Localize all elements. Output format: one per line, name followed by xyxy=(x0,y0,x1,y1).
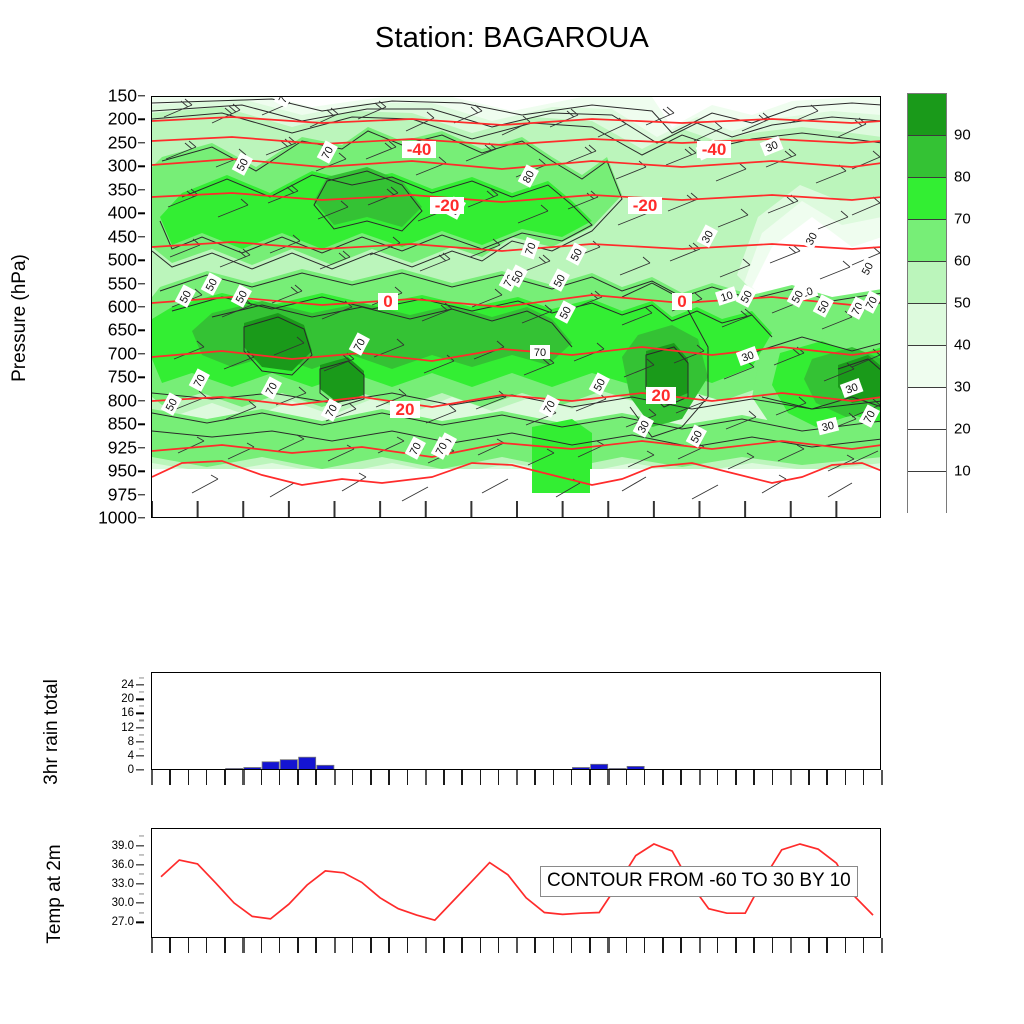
colorbar-band xyxy=(908,262,946,304)
main-y-tick-label: 250 xyxy=(108,132,137,153)
colorbar-tick-label: 30 xyxy=(954,379,971,396)
vertical-cross-section-plot[interactable]: 50 70 50 70 80 50 70 70 50 50 70 70 70 7… xyxy=(151,96,881,518)
x-tick xyxy=(680,770,682,785)
temp-y-minor-tick xyxy=(139,912,144,913)
rain-y-tick xyxy=(136,727,144,728)
page-title: Station: BAGAROUA xyxy=(0,22,1024,55)
temp-x-ticks xyxy=(151,938,881,954)
svg-text:70: 70 xyxy=(534,347,546,359)
x-tick xyxy=(261,770,263,785)
x-tick xyxy=(480,770,482,785)
x-tick xyxy=(224,938,226,953)
x-tick xyxy=(881,938,883,953)
rain-y-axis: 24201612840 xyxy=(0,672,145,770)
rain-y-minor-tick xyxy=(139,748,144,749)
colorbar-tick-label: 80 xyxy=(954,169,971,186)
x-tick xyxy=(498,770,500,785)
x-tick xyxy=(845,938,847,953)
rain-bar xyxy=(280,760,297,770)
main-y-tick xyxy=(138,447,145,448)
colorbar-tick-label: 10 xyxy=(954,463,971,480)
x-tick xyxy=(370,938,372,953)
x-tick xyxy=(845,770,847,785)
rain-x-ticks xyxy=(151,770,881,786)
temp-y-minor-tick xyxy=(139,855,144,856)
x-tick xyxy=(753,770,755,785)
cross-section-canvas: 50 70 50 70 80 50 70 70 50 50 70 70 70 7… xyxy=(152,97,881,518)
x-tick xyxy=(662,938,664,953)
temp-y-minor-tick xyxy=(139,874,144,875)
x-tick xyxy=(717,770,719,785)
x-tick xyxy=(169,770,171,785)
main-y-tick-label: 200 xyxy=(108,109,137,130)
main-y-tick-label: 800 xyxy=(108,390,137,411)
main-y-tick-label: 850 xyxy=(108,414,137,435)
x-tick xyxy=(188,938,190,953)
rain-y-tick-label: 24 xyxy=(121,679,134,691)
x-tick xyxy=(680,938,682,953)
x-tick xyxy=(516,770,518,785)
rain-y-tick xyxy=(136,713,144,714)
x-tick xyxy=(242,938,244,953)
main-y-tick xyxy=(138,424,145,425)
x-tick xyxy=(297,770,299,785)
svg-text:-40: -40 xyxy=(702,140,727,159)
x-tick xyxy=(279,770,281,785)
rain-bar xyxy=(262,762,279,770)
main-y-tick xyxy=(138,306,145,307)
x-tick xyxy=(808,938,810,953)
svg-text:0: 0 xyxy=(677,292,686,311)
main-y-tick xyxy=(138,142,145,143)
rain-bar xyxy=(299,757,316,770)
rain-y-tick xyxy=(136,684,144,685)
main-y-tick xyxy=(138,353,145,354)
colorbar-tick-label: 70 xyxy=(954,211,971,228)
contour-annotation: CONTOUR FROM -60 TO 30 BY 10 xyxy=(540,866,858,897)
rain-y-minor-tick xyxy=(139,692,144,693)
rain-y-tick xyxy=(136,699,144,700)
x-tick xyxy=(790,938,792,953)
x-tick xyxy=(626,938,628,953)
x-tick xyxy=(261,938,263,953)
temp-y-axis: 39.036.033.030.027.0 xyxy=(0,828,145,938)
temp-y-tick-label: 39.0 xyxy=(112,840,134,852)
x-tick xyxy=(553,770,555,785)
colorbar-tick-label: 60 xyxy=(954,253,971,270)
main-y-axis: 1502002503003504004505005506006507007508… xyxy=(0,96,145,518)
x-tick xyxy=(607,770,609,785)
colorbar-band xyxy=(908,178,946,220)
rain-y-minor-tick xyxy=(139,734,144,735)
x-tick xyxy=(644,938,646,953)
svg-text:20: 20 xyxy=(652,386,671,405)
x-tick xyxy=(534,938,536,953)
x-tick xyxy=(188,770,190,785)
main-y-tick-label: 975 xyxy=(108,484,137,505)
x-tick xyxy=(407,938,409,953)
main-y-tick-label: 400 xyxy=(108,203,137,224)
temp-y-tick xyxy=(136,922,144,923)
main-y-tick xyxy=(138,283,145,284)
x-tick xyxy=(407,770,409,785)
main-y-tick xyxy=(138,236,145,237)
main-y-tick xyxy=(138,400,145,401)
svg-text:-20: -20 xyxy=(633,196,658,215)
main-y-tick xyxy=(138,119,145,120)
x-tick xyxy=(388,938,390,953)
colorbar-tick-label: 50 xyxy=(954,295,971,312)
main-y-tick xyxy=(138,189,145,190)
x-tick xyxy=(315,770,317,785)
main-y-tick-label: 550 xyxy=(108,273,137,294)
x-tick xyxy=(735,770,737,785)
colorbar-tick-label: 90 xyxy=(954,127,971,144)
x-tick xyxy=(334,770,336,785)
x-tick xyxy=(352,770,354,785)
main-y-tick xyxy=(138,517,145,518)
main-y-tick xyxy=(138,95,145,96)
main-y-tick xyxy=(138,377,145,378)
main-y-tick xyxy=(138,213,145,214)
temp-y-tick xyxy=(136,845,144,846)
main-y-tick-label: 650 xyxy=(108,320,137,341)
svg-text:20: 20 xyxy=(396,400,415,419)
rain-y-minor-tick xyxy=(139,720,144,721)
svg-text:0: 0 xyxy=(383,292,392,311)
x-tick xyxy=(425,770,427,785)
x-tick xyxy=(315,938,317,953)
x-tick xyxy=(516,938,518,953)
rain-y-tick xyxy=(136,769,144,770)
x-tick xyxy=(297,938,299,953)
main-y-tick xyxy=(138,330,145,331)
x-tick xyxy=(826,938,828,953)
rain-y-tick xyxy=(136,741,144,742)
rain-y-tick-label: 0 xyxy=(128,764,134,776)
rain-y-tick-label: 20 xyxy=(121,693,134,705)
rain-y-tick-label: 16 xyxy=(121,707,134,719)
x-tick xyxy=(589,770,591,785)
x-tick xyxy=(644,770,646,785)
temp-y-tick-label: 27.0 xyxy=(112,916,134,928)
temp-y-tick-label: 33.0 xyxy=(112,878,134,890)
main-y-tick-label: 150 xyxy=(108,86,137,107)
x-tick xyxy=(753,938,755,953)
x-tick xyxy=(334,938,336,953)
colorbar-labels: 908070605040302010 xyxy=(950,93,1020,513)
main-y-tick xyxy=(138,166,145,167)
x-tick xyxy=(790,770,792,785)
x-tick xyxy=(388,770,390,785)
main-y-tick-label: 925 xyxy=(108,437,137,458)
main-y-tick xyxy=(138,259,145,260)
colorbar-tick-label: 20 xyxy=(954,421,971,438)
x-tick xyxy=(662,770,664,785)
rain-y-tick xyxy=(136,755,144,756)
x-tick xyxy=(443,938,445,953)
x-tick xyxy=(352,938,354,953)
x-tick xyxy=(498,938,500,953)
colorbar-band xyxy=(908,388,946,430)
x-tick xyxy=(863,770,865,785)
colorbar-tick-label: 40 xyxy=(954,337,971,354)
rain-y-minor-tick xyxy=(139,706,144,707)
x-tick xyxy=(717,938,719,953)
x-tick xyxy=(370,770,372,785)
x-tick xyxy=(735,938,737,953)
x-tick xyxy=(626,770,628,785)
x-tick xyxy=(206,938,208,953)
x-tick xyxy=(279,938,281,953)
temp-y-tick xyxy=(136,883,144,884)
main-y-tick-label: 950 xyxy=(108,461,137,482)
x-tick xyxy=(553,938,555,953)
temp-y-tick xyxy=(136,903,144,904)
colorbar-band xyxy=(908,430,946,472)
x-tick xyxy=(242,770,244,785)
svg-text:-40: -40 xyxy=(407,140,432,159)
x-tick xyxy=(224,770,226,785)
x-tick xyxy=(571,938,573,953)
x-tick xyxy=(826,770,828,785)
x-tick xyxy=(480,938,482,953)
colorbar-band xyxy=(908,346,946,388)
colorbar-band xyxy=(908,472,946,514)
x-tick xyxy=(589,938,591,953)
colorbar-band xyxy=(908,136,946,178)
x-tick xyxy=(881,770,883,785)
rain-bars-canvas xyxy=(152,673,881,770)
x-tick xyxy=(461,938,463,953)
colorbar-band xyxy=(908,94,946,136)
x-tick xyxy=(425,938,427,953)
svg-text:-20: -20 xyxy=(435,196,460,215)
main-y-tick-label: 450 xyxy=(108,226,137,247)
main-y-tick xyxy=(138,470,145,471)
x-tick xyxy=(699,770,701,785)
x-tick xyxy=(206,770,208,785)
x-tick xyxy=(772,770,774,785)
main-y-tick-label: 300 xyxy=(108,156,137,177)
temp-y-tick xyxy=(136,864,144,865)
temp-y-tick-label: 30.0 xyxy=(112,897,134,909)
rain-y-minor-tick xyxy=(139,677,144,678)
x-tick xyxy=(699,938,701,953)
rain-y-tick-label: 4 xyxy=(128,750,134,762)
main-y-tick-label: 750 xyxy=(108,367,137,388)
rain-y-tick-label: 12 xyxy=(121,722,134,734)
colorbar-band xyxy=(908,220,946,262)
x-tick xyxy=(571,770,573,785)
temp-y-minor-tick xyxy=(139,835,144,836)
rain-bar-series xyxy=(226,757,645,770)
temp-y-minor-tick xyxy=(139,893,144,894)
main-y-tick-label: 350 xyxy=(108,179,137,200)
main-y-tick-label: 500 xyxy=(108,250,137,271)
x-tick xyxy=(534,770,536,785)
main-y-tick-label: 600 xyxy=(108,297,137,318)
temp-y-tick-label: 36.0 xyxy=(112,859,134,871)
x-tick xyxy=(607,938,609,953)
x-tick xyxy=(443,770,445,785)
colorbar-band xyxy=(908,304,946,346)
x-tick xyxy=(863,938,865,953)
main-y-tick-label: 1000 xyxy=(98,508,137,529)
rain-y-tick-label: 8 xyxy=(128,736,134,748)
x-tick xyxy=(151,938,153,953)
main-y-tick-label: 700 xyxy=(108,343,137,364)
rain-panel[interactable] xyxy=(151,672,881,770)
x-tick xyxy=(169,938,171,953)
x-tick xyxy=(808,770,810,785)
x-tick xyxy=(772,938,774,953)
main-y-tick xyxy=(138,494,145,495)
x-tick xyxy=(461,770,463,785)
colorbar xyxy=(907,93,947,513)
x-tick xyxy=(151,770,153,785)
